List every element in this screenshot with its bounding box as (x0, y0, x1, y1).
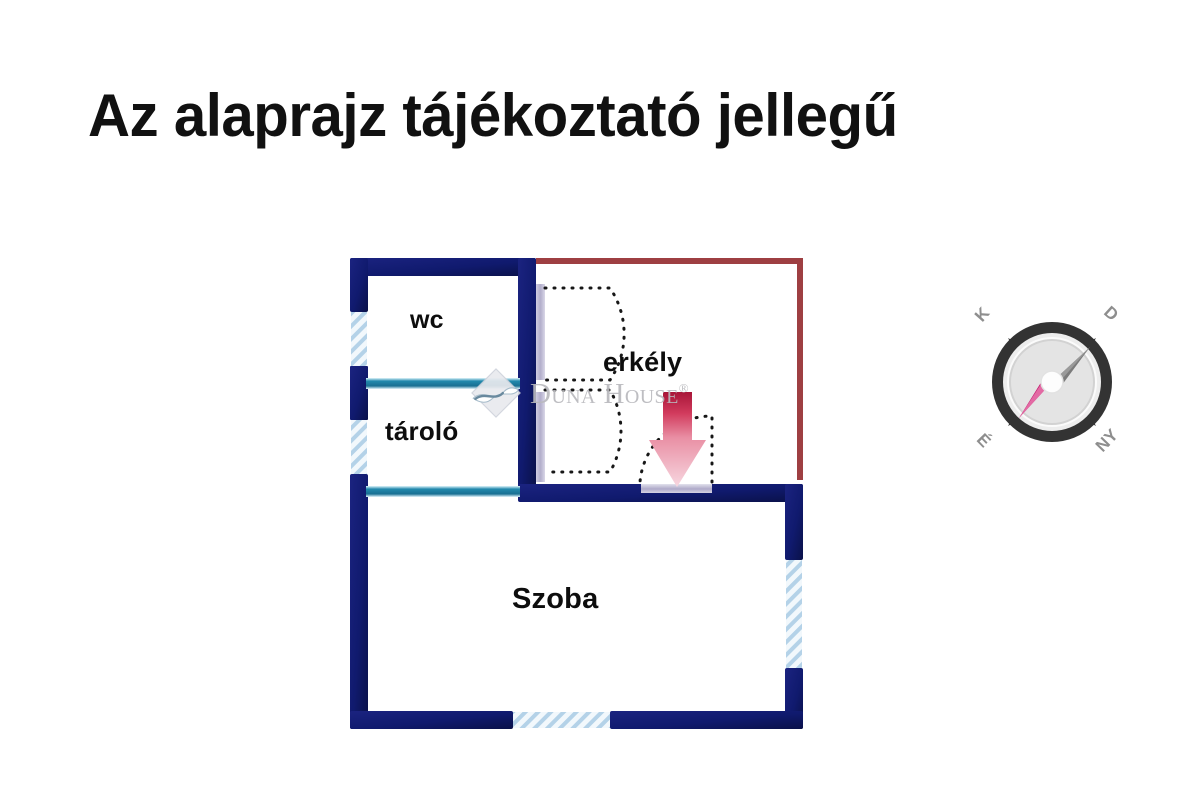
watermark-brand: Duna House (530, 378, 679, 410)
divider-taroblo-szoba (366, 486, 520, 497)
window-right (786, 560, 802, 668)
window-bottom (513, 712, 610, 728)
window-left-lower (351, 420, 367, 474)
floorplan-canvas: Az alaprajz tájékoztató jellegű (0, 0, 1200, 789)
duna-house-watermark: Duna House® (470, 366, 745, 420)
room-label-taroblo: tároló (385, 416, 458, 447)
page-title: Az alaprajz tájékoztató jellegű (88, 80, 1077, 152)
duna-house-diamond-wave-logo (470, 367, 522, 419)
room-label-szoba: Szoba (512, 583, 598, 616)
swing-arc-szoba-entry (640, 416, 712, 482)
compass-rose: K D NY É (962, 292, 1142, 472)
watermark-text: Duna House® (530, 380, 689, 409)
watermark-registered-mark: ® (679, 380, 689, 395)
window-left-upper (351, 312, 367, 366)
room-label-wc: wc (410, 306, 444, 335)
door-panel-szoba-entry (641, 484, 712, 493)
